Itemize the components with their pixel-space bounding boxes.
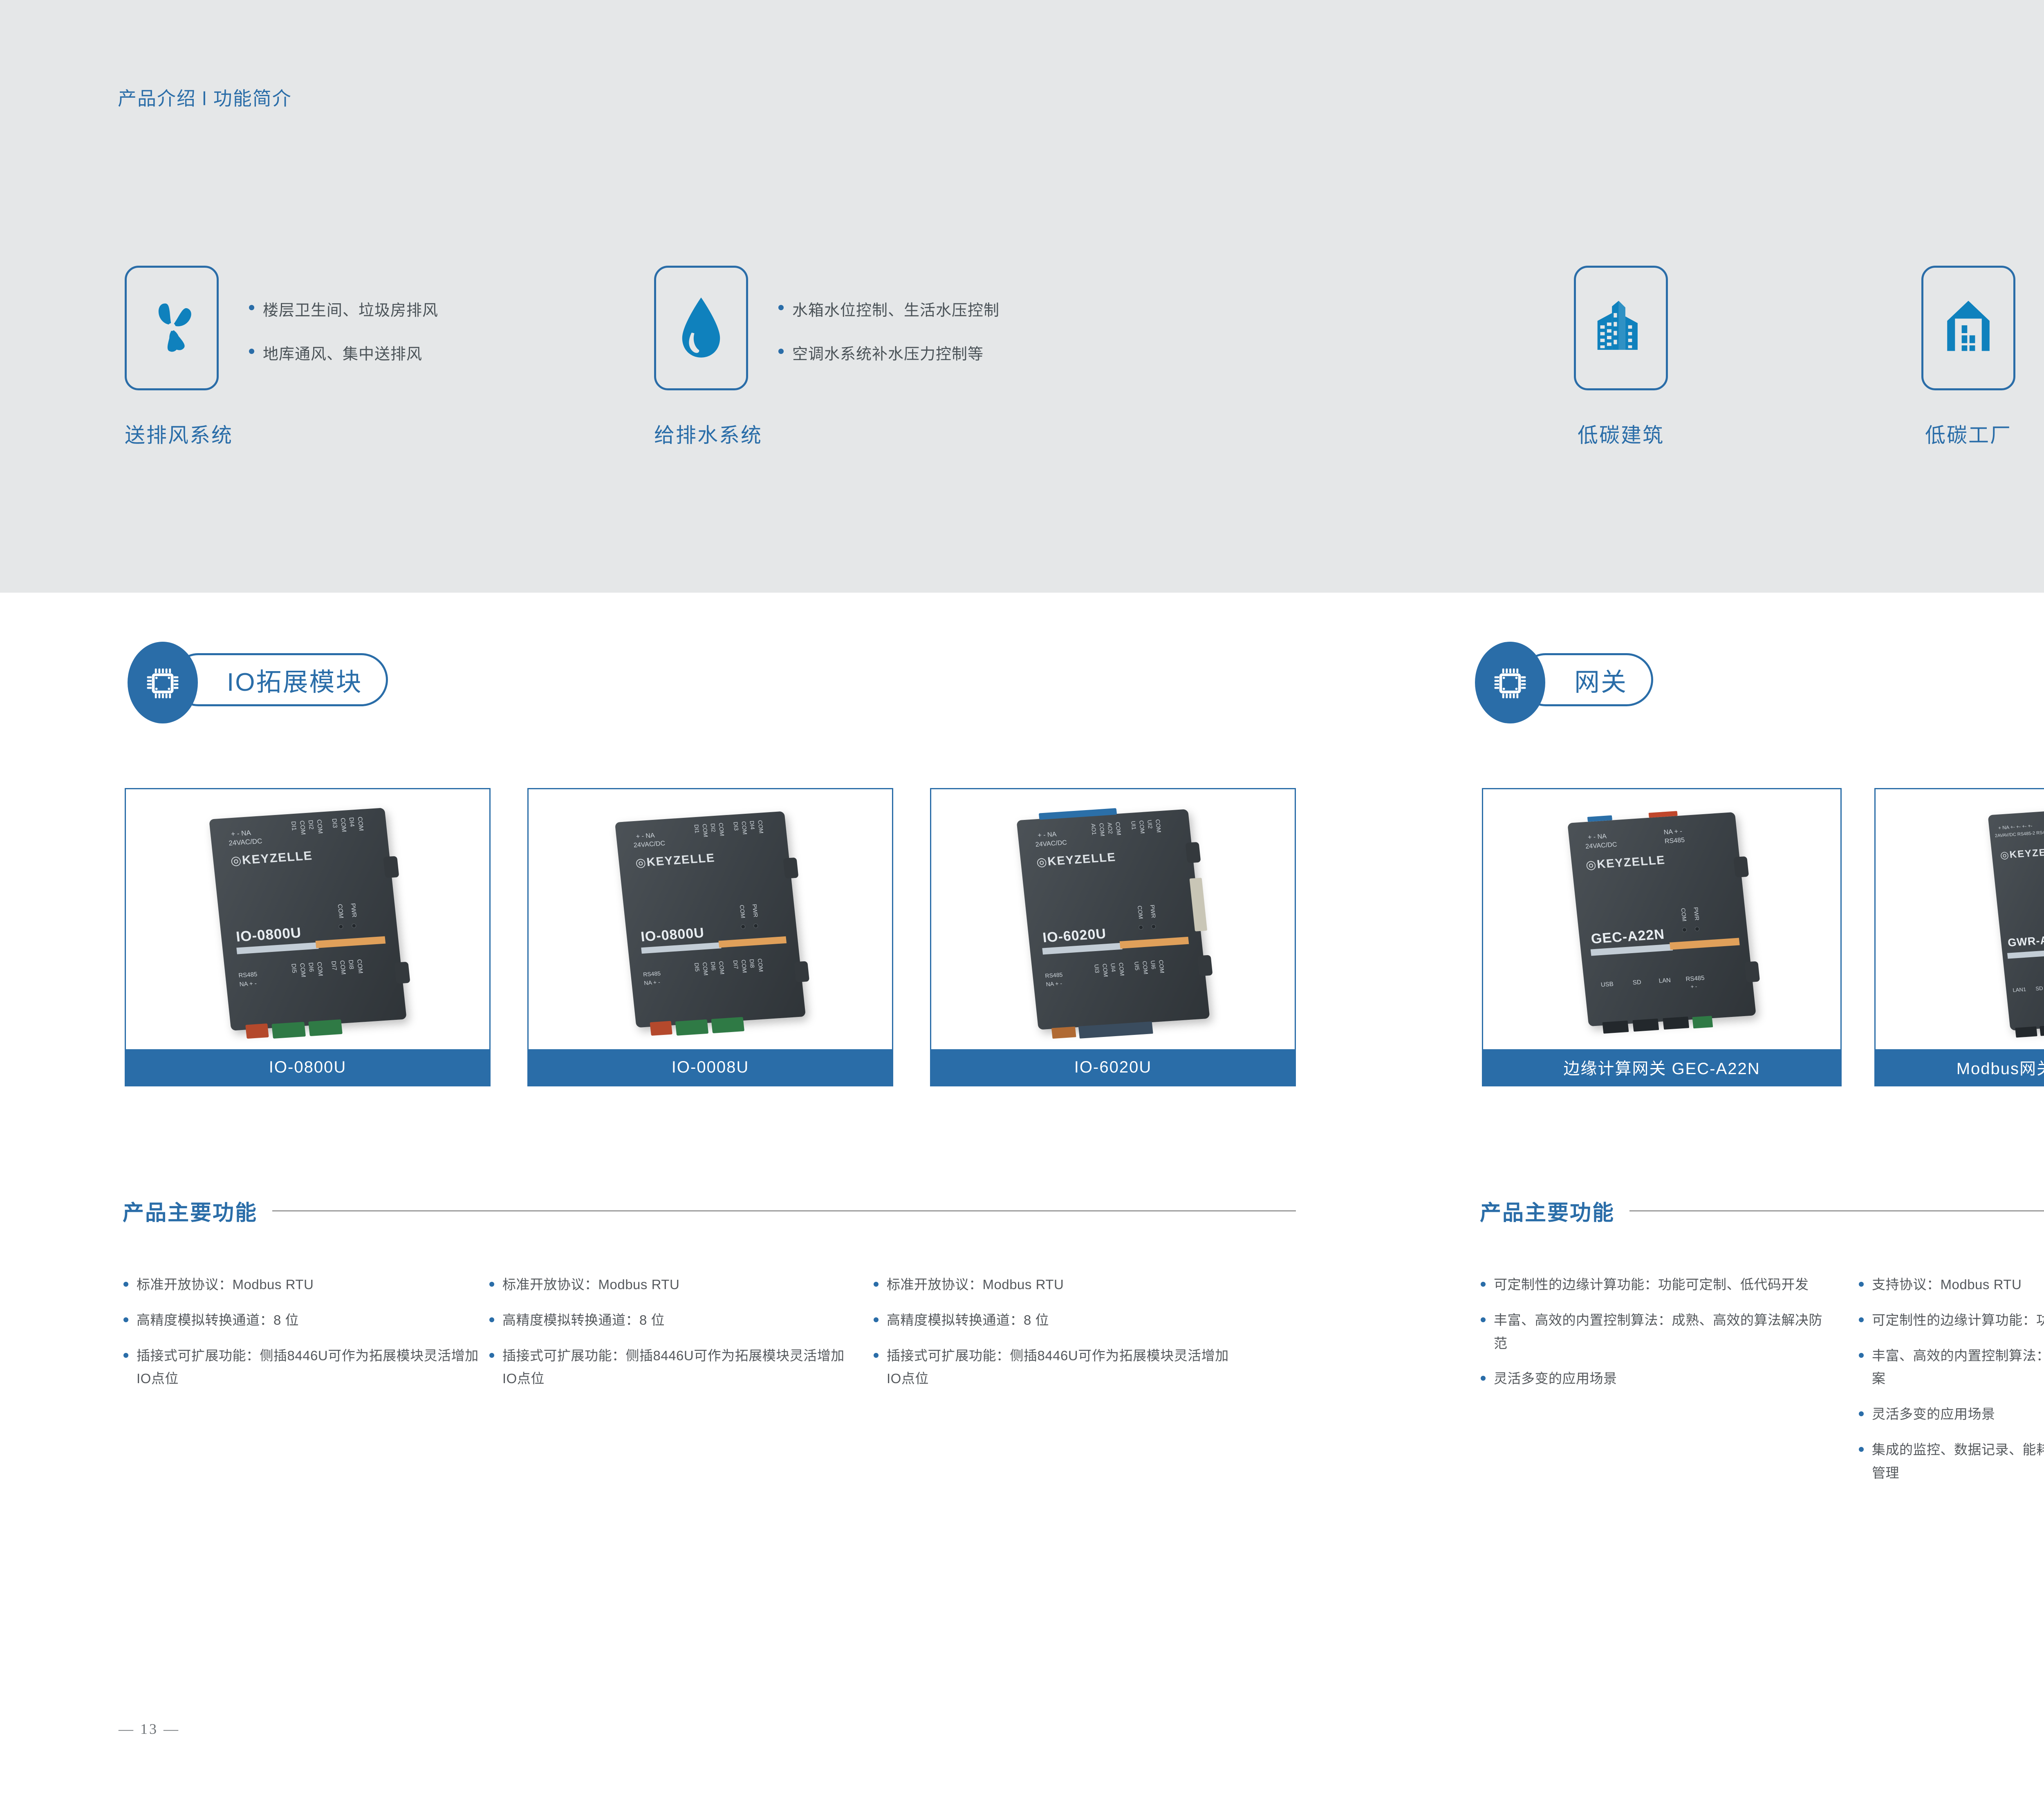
product-card[interactable]: + - NA 24VAC/DC AO1 COM AO2 COM UI1 COM …: [930, 788, 1296, 1086]
list-item: 标准开放协议：Modbus RTU: [873, 1273, 1233, 1296]
fan-icon: [139, 294, 204, 362]
product-caption: IO-6020U: [931, 1049, 1295, 1085]
application-block-ventilation: 楼层卫生间、垃圾房排风 地库通风、集中送排风 送排风系统: [125, 266, 233, 448]
water-drop-icon: [670, 293, 732, 363]
chip-icon: [128, 642, 198, 723]
fan-icon-box: [125, 266, 219, 390]
product-image: + - NA 24VAC/DC AO1 COM AO2 COM UI1 COM …: [931, 789, 1295, 1049]
header-left: 产品介绍 l 功能简介: [118, 84, 292, 111]
product-image: + - NA 24VAC/DC NA + - RS485 ◎KEYZELLE G…: [1483, 789, 1840, 1049]
badge-pill: IO拓展模块: [172, 653, 388, 706]
badge-title: IO拓展模块: [227, 661, 362, 698]
device-gec-a22n: + - NA 24VAC/DC NA + - RS485 ◎KEYZELLE G…: [1578, 817, 1746, 1021]
list-item: 插接式可扩展功能：侧插8446U可作为拓展模块灵活增加IO点位: [489, 1344, 848, 1391]
device-io-0008u: + - NA 24VAC/DC DI1 COM DI2 COM DI3 COM …: [625, 816, 795, 1023]
product-card[interactable]: + NA +- +- +- +- 2AVAV/DC RS485-2 RS485-…: [1874, 788, 2044, 1086]
sector-label: 低碳工厂: [1921, 419, 2015, 448]
list-item: 丰富、高效的内置控制算法：成熟、高效的算法解决方案: [1858, 1344, 2044, 1391]
sector-block-building: 低碳建筑: [1574, 266, 1668, 448]
list-item: 楼层卫生间、垃圾房排风: [247, 298, 438, 320]
list-item: 标准开放协议：Modbus RTU: [123, 1273, 482, 1296]
feature-column: 标准开放协议：Modbus RTU 高精度模拟转换通道：8 位 插接式可扩展功能…: [489, 1273, 848, 1403]
factory-icon-box: [1921, 266, 2015, 390]
product-image: + NA +- +- +- +- 2AVAV/DC RS485-2 RS485-…: [1876, 789, 2044, 1049]
device-io-6020u: + - NA 24VAC/DC AO1 COM AO2 COM UI1 COM …: [1027, 814, 1199, 1025]
features-rule: [272, 1210, 1296, 1211]
product-image: + - NA 24VAC/DC DI1 COM DI2 COM DI3 COM …: [126, 789, 489, 1049]
product-caption: 边缘计算网关 GEC-A22N: [1483, 1049, 1840, 1085]
sector-label: 低碳建筑: [1574, 419, 1668, 448]
feature-column: 可定制性的边缘计算功能：功能可定制、低代码开发 丰富、高效的内置控制算法：成熟、…: [1480, 1273, 1831, 1403]
list-item: 丰富、高效的内置控制算法：成熟、高效的算法解决防范: [1480, 1309, 1831, 1355]
ventilation-bullet-list: 楼层卫生间、垃圾房排风 地库通风、集中送排风: [247, 298, 438, 385]
device-io-0800u: + - NA 24VAC/DC DI1 COM DI2 COM DI3 COM …: [220, 813, 396, 1026]
product-caption: IO-0008U: [529, 1049, 892, 1085]
sector-block-factory: 低碳工厂: [1921, 266, 2015, 448]
product-caption: IO-0800U: [126, 1049, 489, 1085]
water-drop-icon-box: [654, 266, 748, 390]
application-label: 给排水系统: [654, 419, 762, 448]
plumbing-bullet-list: 水箱水位控制、生活水压控制 空调水系统补水压力控制等: [777, 298, 1000, 385]
list-item: 标准开放协议：Modbus RTU: [489, 1273, 848, 1296]
list-item: 高精度模拟转换通道：8 位: [489, 1309, 848, 1332]
feature-column: 标准开放协议：Modbus RTU 高精度模拟转换通道：8 位 插接式可扩展功能…: [873, 1273, 1233, 1403]
list-item: 插接式可扩展功能：侧插8446U可作为拓展模块灵活增加IO点位: [873, 1344, 1233, 1391]
product-card[interactable]: + - NA 24VAC/DC DI1 COM DI2 COM DI3 COM …: [125, 788, 491, 1086]
features-title: 产品主要功能: [123, 1196, 258, 1226]
feature-column: 标准开放协议：Modbus RTU 高精度模拟转换通道：8 位 插接式可扩展功能…: [123, 1273, 482, 1403]
features-header-right: 产品主要功能: [1480, 1196, 2044, 1226]
catalog-page: 产品介绍 l 功能简介 产品介绍 l 功能简介 楼层卫生间、垃圾房排风 地库通风…: [0, 0, 2044, 1798]
feature-column: 支持协议：Modbus RTU 可定制性的边缘计算功能：功能可定制、低代码开发 …: [1858, 1273, 2044, 1497]
list-item: 支持协议：Modbus RTU: [1858, 1273, 2044, 1296]
chip-icon: [1475, 642, 1545, 723]
list-item: 灵活多变的应用场景: [1858, 1403, 2044, 1426]
badge-title: 网关: [1574, 661, 1627, 698]
product-card[interactable]: + - NA 24VAC/DC DI1 COM DI2 COM DI3 COM …: [527, 788, 893, 1086]
list-item: 灵活多变的应用场景: [1480, 1367, 1831, 1390]
list-item: 集成的监控、数据记录、能耗计量、报警、调度和网络管理: [1858, 1438, 2044, 1485]
page-number-left: — 13 —: [119, 1720, 180, 1738]
features-rule: [1629, 1210, 2044, 1211]
features-title: 产品主要功能: [1480, 1196, 1615, 1226]
skyscraper-icon-box: [1574, 266, 1668, 390]
skyscraper-icon: [1592, 296, 1650, 360]
application-block-plumbing: 水箱水位控制、生活水压控制 空调水系统补水压力控制等 给排水系统: [654, 266, 762, 448]
list-item: 高精度模拟转换通道：8 位: [873, 1309, 1233, 1332]
top-band: [0, 0, 2044, 593]
list-item: 可定制性的边缘计算功能：功能可定制、低代码开发: [1480, 1273, 1831, 1296]
list-item: 空调水系统补水压力控制等: [777, 341, 1000, 364]
product-card[interactable]: + - NA 24VAC/DC NA + - RS485 ◎KEYZELLE G…: [1482, 788, 1842, 1086]
product-image: + - NA 24VAC/DC DI1 COM DI2 COM DI3 COM …: [529, 789, 892, 1049]
list-item: 地库通风、集中送排风: [247, 341, 438, 364]
features-header-left: 产品主要功能: [123, 1196, 1296, 1226]
factory-icon: [1940, 296, 1997, 360]
list-item: 水箱水位控制、生活水压控制: [777, 298, 1000, 320]
list-item: 可定制性的边缘计算功能：功能可定制、低代码开发: [1858, 1309, 2044, 1332]
product-caption: Modbus网关 GWR-A25N: [1876, 1049, 2044, 1085]
application-label: 送排风系统: [125, 419, 233, 448]
list-item: 高精度模拟转换通道：8 位: [123, 1309, 482, 1332]
list-item: 插接式可扩展功能：侧插8446U可作为拓展模块灵活增加IO点位: [123, 1344, 482, 1391]
device-gwr-a25n: + NA +- +- +- +- 2AVAV/DC RS485-2 RS485-…: [1999, 811, 2044, 1028]
